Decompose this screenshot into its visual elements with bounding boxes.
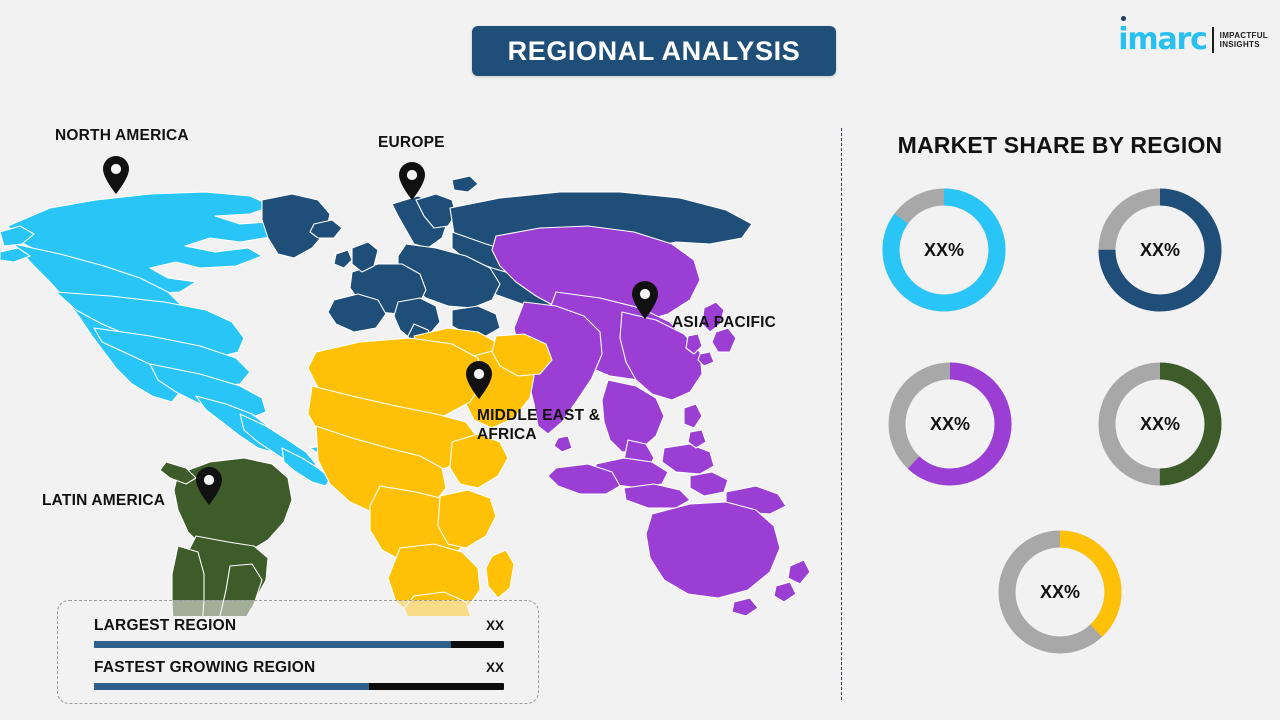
map-label-middle-east-africa: MIDDLE EAST & AFRICA (477, 406, 600, 445)
map-pin-asia-pacific-icon[interactable] (632, 281, 658, 324)
legend-label: FASTEST GROWING REGION (94, 659, 315, 677)
legend-label: LARGEST REGION (94, 617, 236, 635)
map-pin-europe-icon[interactable] (399, 162, 425, 205)
donut-value-label: XX% (874, 180, 1014, 320)
logo-mark: imarc (1118, 25, 1206, 55)
legend-head: LARGEST REGION XX (94, 617, 504, 635)
legend-progress-bar (94, 683, 504, 690)
map-region-middle-east-africa[interactable] (308, 328, 552, 616)
map-region-north-america[interactable] (0, 192, 364, 486)
logo-dot-icon (1121, 16, 1126, 21)
donut-chart-middle-east-africa[interactable]: XX% (990, 522, 1130, 662)
region-ranking-legend: LARGEST REGION XX FASTEST GROWING REGION… (57, 600, 539, 704)
market-share-title: MARKET SHARE BY REGION (860, 132, 1260, 159)
logo-tagline-line1: IMPACTFUL (1220, 31, 1268, 40)
donut-value-label: XX% (880, 354, 1020, 494)
legend-head: FASTEST GROWING REGION XX (94, 659, 504, 677)
legend-progress-fill (94, 641, 451, 648)
map-label-asia-pacific: ASIA PACIFIC (672, 313, 776, 332)
legend-value: XX (486, 660, 504, 675)
logo-tagline-line2: INSIGHTS (1220, 40, 1268, 49)
legend-value: XX (486, 618, 504, 633)
map-label-north-america: NORTH AMERICA (55, 126, 189, 145)
donut-value-label: XX% (990, 522, 1130, 662)
legend-row-fastest-growing-region: FASTEST GROWING REGION XX (94, 659, 504, 690)
panel-divider (841, 128, 842, 700)
legend-row-largest-region: LARGEST REGION XX (94, 617, 504, 648)
map-pin-north-america-icon[interactable] (103, 156, 129, 199)
donut-value-label: XX% (1090, 180, 1230, 320)
logo-divider (1212, 27, 1214, 53)
donut-value-label: XX% (1090, 354, 1230, 494)
logo-tagline: IMPACTFUL INSIGHTS (1220, 31, 1268, 49)
page-title-banner: REGIONAL ANALYSIS (472, 26, 836, 76)
logo-wordmark: imarc (1118, 25, 1206, 55)
imarc-logo: imarc IMPACTFUL INSIGHTS (1118, 18, 1268, 62)
map-pin-latin-america-icon[interactable] (196, 467, 222, 510)
donut-chart-north-america[interactable]: XX% (874, 180, 1014, 320)
legend-progress-fill (94, 683, 369, 690)
donut-chart-asia-pacific[interactable]: XX% (880, 354, 1020, 494)
donut-chart-latin-america[interactable]: XX% (1090, 354, 1230, 494)
map-label-latin-america: LATIN AMERICA (42, 491, 165, 510)
donut-chart-europe[interactable]: XX% (1090, 180, 1230, 320)
map-region-latin-america[interactable] (160, 458, 292, 616)
legend-progress-bar (94, 641, 504, 648)
map-pin-middle-east-africa-icon[interactable] (466, 361, 492, 404)
market-share-donut-group: XX% XX% XX% XX% XX% (852, 172, 1272, 692)
page-title: REGIONAL ANALYSIS (508, 36, 801, 67)
infographic-root: REGIONAL ANALYSIS imarc IMPACTFUL INSIGH… (0, 0, 1280, 720)
map-label-europe: EUROPE (378, 133, 445, 152)
